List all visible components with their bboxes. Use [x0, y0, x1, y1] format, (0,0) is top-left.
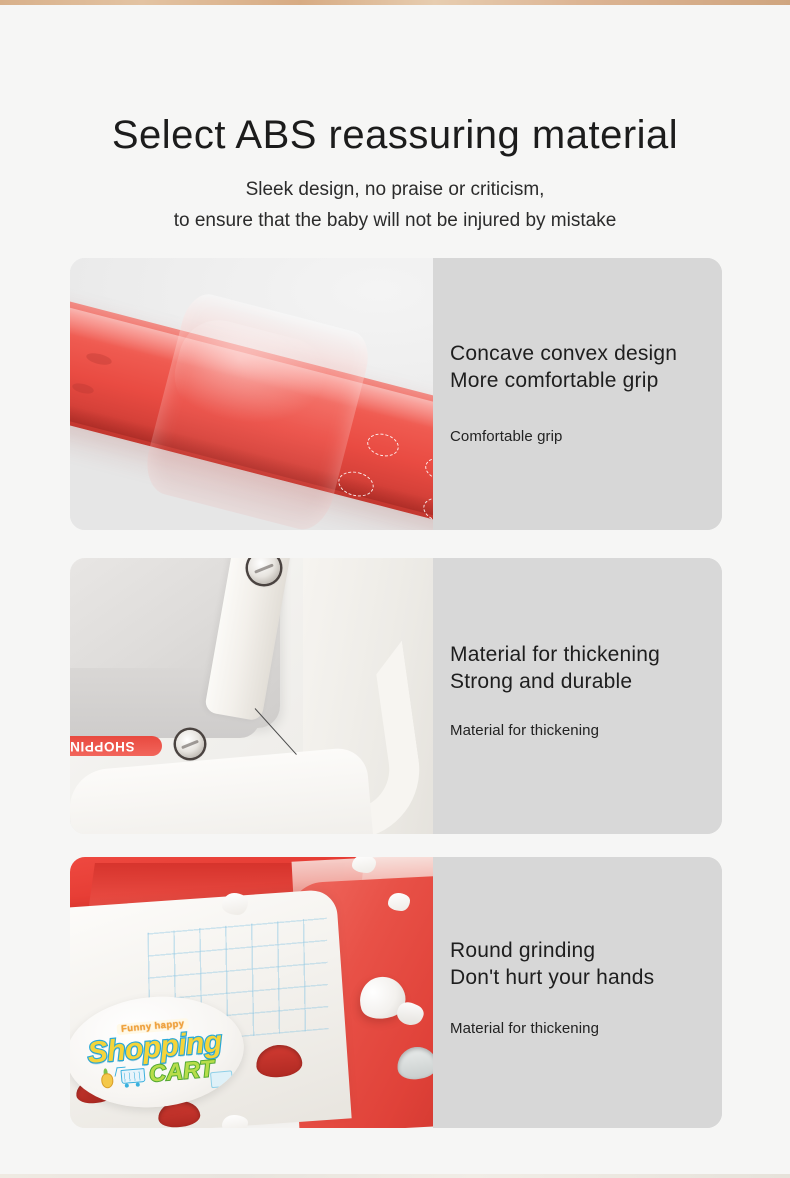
- feature-sub-label: Material for thickening: [450, 722, 599, 739]
- feature-heading-line-1: Concave convex design: [450, 340, 677, 367]
- cart-nub: [222, 893, 248, 915]
- feature-card-material-thickening: SHOPPIN Material for thickening Strong a…: [70, 558, 722, 834]
- feature-heading-line-2: Strong and durable: [450, 668, 660, 695]
- feature-heading-line-1: Material for thickening: [450, 641, 660, 668]
- bottom-strip: [0, 1174, 790, 1178]
- feature-heading: Material for thickening Strong and durab…: [450, 641, 660, 695]
- feature-photo-frame-corner: SHOPPIN: [70, 558, 433, 834]
- cart-nub: [222, 1115, 248, 1128]
- page-title: Select ABS reassuring material: [0, 113, 790, 157]
- subtitle-line-2: to ensure that the baby will not be inju…: [0, 205, 790, 236]
- feature-heading: Round grinding Don't hurt your hands: [450, 937, 654, 991]
- shopping-cart-icon: [115, 1063, 147, 1088]
- feature-sub-label: Material for thickening: [450, 1020, 599, 1037]
- feature-heading-line-2: Don't hurt your hands: [450, 964, 654, 991]
- top-wood-strip: [0, 0, 790, 5]
- feature-text-panel: Round grinding Don't hurt your hands Mat…: [433, 857, 722, 1128]
- feature-heading-line-2: More comfortable grip: [450, 367, 677, 394]
- feature-photo-handle-grip: [70, 258, 433, 530]
- feature-sub-label: Comfortable grip: [450, 428, 562, 445]
- pineapple-icon: [98, 1067, 114, 1088]
- shopping-pill-label: SHOPPIN: [70, 736, 162, 756]
- screw-icon: [176, 730, 204, 758]
- shopping-cart-logo-badge: Funny happy Shopping CART: [70, 989, 248, 1114]
- badge-corner-tag: [210, 1070, 233, 1088]
- badge-word-cart: CART: [148, 1055, 216, 1088]
- cart-nub: [352, 857, 376, 873]
- subtitle-line-1: Sleek design, no praise or criticism,: [0, 174, 790, 205]
- feature-heading-line-1: Round grinding: [450, 937, 654, 964]
- feature-photo-cart-body: Funny happy Shopping CART: [70, 857, 433, 1128]
- feature-card-concave-convex-design: Concave convex design More comfortable g…: [70, 258, 722, 530]
- feature-text-panel: Material for thickening Strong and durab…: [433, 558, 722, 834]
- feature-card-round-grinding: Funny happy Shopping CART: [70, 857, 722, 1128]
- cart-nub: [388, 893, 410, 911]
- feature-text-panel: Concave convex design More comfortable g…: [433, 258, 722, 530]
- feature-heading: Concave convex design More comfortable g…: [450, 340, 677, 394]
- page-subtitle: Sleek design, no praise or criticism, to…: [0, 174, 790, 236]
